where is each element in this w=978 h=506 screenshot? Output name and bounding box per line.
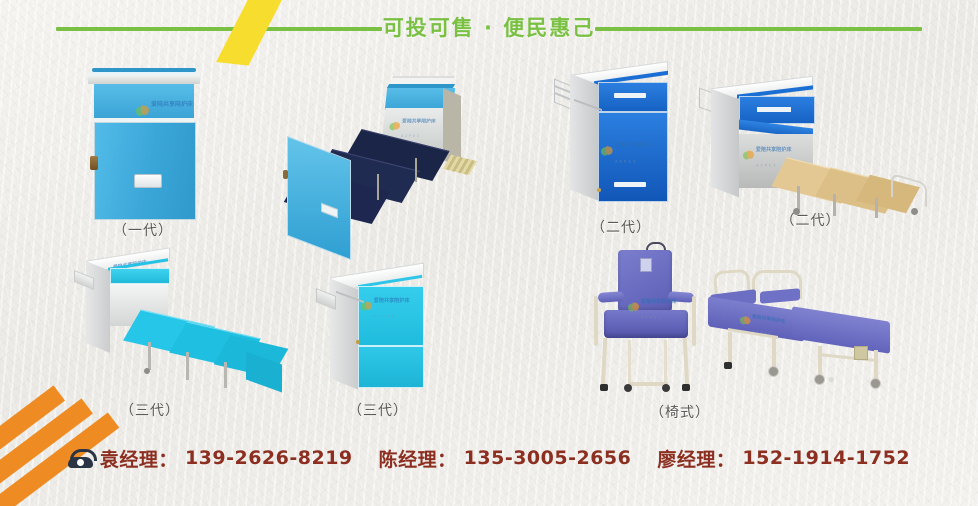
chair-bed-leg-1 [728,332,732,366]
chair-foot-right [682,384,690,391]
chair-leg-rear-left [628,340,631,386]
chair-bed-caster-3 [870,378,881,389]
contact-item-1[interactable]: 袁经理：139-2626-8219 [68,445,353,472]
leaf-icon [389,121,400,131]
drawer-handle[interactable] [757,107,791,112]
chair-leg-front-right [683,338,690,388]
product-chair-folded[interactable]: 爱陪共享陪护床 ＡＩＰＥＩ （椅式） [588,244,728,404]
caption-gen3: （三代） [50,400,250,420]
foot-plate [443,155,477,175]
contact-name-2: 陈经理： [379,445,457,472]
product-gen3-cabinet[interactable]: 爱陪共享陪护床 ＡＩＰＥＩ （三代） [318,268,438,398]
door-handle[interactable] [614,182,646,187]
bed-caster-1 [144,368,150,374]
product-gen1-open[interactable]: 爱陪共享陪护床 ＡＩＰＥＩ [285,62,500,247]
contact-bar: 袁经理：139-2626-8219 陈经理：135-3005-2656 廖经理：… [0,440,978,476]
cabinet-door[interactable]: 爱陪共享陪护床 ＡＩＰＥＩ [598,112,668,202]
chair-bed-hinge [854,346,868,360]
chair-bed-section-2 [792,306,890,354]
poster-canvas: 可投可售 · 便民惠己 爱陪共享陪护床 ＡＩＰＥＩ [0,0,978,506]
header-banner: 可投可售 · 便民惠己 [0,0,978,58]
door-lock-icon[interactable] [90,156,98,170]
door-lock-icon[interactable] [356,340,360,344]
cabinet-side-panel [86,261,110,353]
cabinet-door[interactable] [94,122,196,220]
contact-item-3[interactable]: 廖经理：152-1914-1752 [657,445,910,472]
leaf-icon [743,150,754,161]
cabinet-door-lower[interactable] [358,346,424,388]
door-handle[interactable] [134,174,162,188]
bed-leg-2 [377,174,379,200]
cabinet-top-cap [88,75,200,84]
watermark-text: 爱陪共享陪护床 [752,314,786,325]
leaf-icon [740,315,750,327]
caption-chair: （椅式） [610,402,750,422]
chair-caster-right [662,384,670,392]
open-bed-door-lock-icon[interactable] [283,170,288,179]
chair-frame-right [692,296,696,346]
chair-foot-left [600,384,608,391]
contact-name-3: 廖经理： [657,445,735,472]
chair-bed-caster-2 [814,374,825,385]
chair-armrest-left [598,291,625,303]
caption-gen1: （一代） [88,220,198,240]
watermark-text: 爱陪共享陪护床 [756,147,792,153]
contact-phone-1: 139-2626-8219 [185,447,353,469]
bed-leg-2 [186,352,189,380]
telephone-icon [68,449,93,468]
cabinet-drawer[interactable] [110,268,170,284]
watermark-subtext: ＡＩＰＥＩ [756,163,777,167]
caption-gen2-open: （二代） [693,210,928,230]
product-gen2-cabinet[interactable]: 爱陪共享陪护床 ＡＩＰＥＩ （二代） [566,60,676,215]
product-gen1-cabinet[interactable]: 爱陪共享陪护床 ＡＩＰＥＩ （一代） [88,68,198,218]
watermark-text: 爱陪共享陪护床 [374,298,410,304]
watermark-subtext: ＡＩＰＥＩ [615,159,638,164]
leaf-icon [601,145,613,157]
caption-gen3-cabinet: （三代） [318,400,438,420]
caption-gen2: （二代） [566,217,676,237]
watermark-subtext: ＡＩＰＥＩ [641,315,662,319]
leaf-icon [136,105,149,118]
chair-frame-left [594,296,598,346]
chair-caster-left [624,384,632,392]
contact-phone-2: 135-3005-2656 [464,447,632,469]
product-gen3-open[interactable]: 爱陪共享陪护床 ＡＩＰＥＩ （三代） [78,252,308,402]
watermark-text: 爱陪共享陪护床 [402,118,436,124]
contact-item-2[interactable]: 陈经理：135-3005-2656 [379,445,632,472]
header-title: 可投可售 · 便民惠己 [0,12,978,42]
product-gen2-open[interactable]: 爱陪共享陪护床 ＡＩＰＥＩ （二代） [705,80,940,220]
chair-bed-foot [724,362,732,369]
bed-leg-3 [415,158,417,182]
watermark-subtext: ＡＩＰＥＩ [374,314,395,318]
chair-label-tag [640,258,652,272]
cabinet-side-panel [711,89,739,198]
bed-leg-1 [148,342,151,370]
chair-leg-front-left [601,338,608,388]
watermark-text: 爱陪共享陪护床 [615,142,653,148]
watermark-logo: 爱陪共享陪护床 ＡＩＰＥＩ [361,291,409,322]
cabinet-upper-panel: 爱陪共享陪护床 ＡＩＰＥＩ [94,84,194,118]
contact-phone-3: 152-1914-1752 [742,447,910,469]
cabinet-side-panel [570,73,598,200]
door-lock-icon[interactable] [597,188,601,192]
chair-seat-cushion: 爱陪共享陪护床 ＡＩＰＥＩ [604,310,688,338]
cabinet-door-upper[interactable]: 爱陪共享陪护床 ＡＩＰＥＩ [358,286,424,346]
chair-leg-rear-right [664,340,667,386]
watermark-logo: 爱陪共享陪护床 ＡＩＰＥＩ [601,135,652,167]
chair-bed-backrest [760,288,800,303]
contact-name-1: 袁经理： [100,445,178,472]
product-chair-bed[interactable]: 爱陪共享陪护床 ＡＩＰＥＩ [714,266,914,396]
chair-armrest-right [668,291,695,303]
watermark-subtext: ＡＩＰＥＩ [400,134,420,138]
drawer-handle[interactable] [614,93,646,98]
chair-bed-caster-1 [768,366,779,377]
watermark-text: 爱陪共享陪护床 [151,101,193,108]
bed-leg-3 [224,362,227,388]
bed-leg-1 [797,186,800,210]
